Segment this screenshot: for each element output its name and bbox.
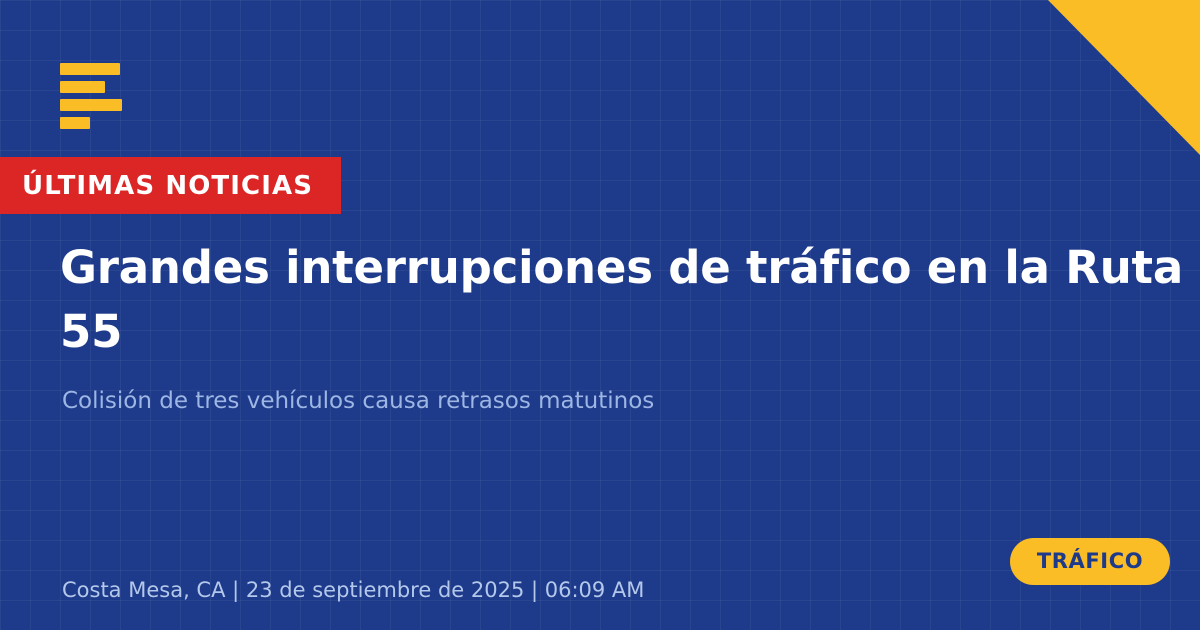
- subtitle: Colisión de tres vehículos causa retraso…: [62, 385, 1062, 417]
- category-badge-label: TRÁFICO: [1037, 551, 1143, 572]
- breaking-news-label: ÚLTIMAS NOTICIAS: [22, 173, 313, 199]
- headline: Grandes interrupciones de tráfico en la …: [60, 236, 1185, 364]
- logo-bar-1: [60, 63, 120, 75]
- breaking-news-card: ÚLTIMAS NOTICIAS Grandes interrupciones …: [0, 0, 1200, 630]
- logo-bar-3: [60, 99, 122, 111]
- logo-bar-4: [60, 117, 90, 129]
- category-badge: TRÁFICO: [1010, 538, 1170, 585]
- stacked-bars-logo: [60, 63, 122, 129]
- breaking-news-banner: ÚLTIMAS NOTICIAS: [0, 157, 341, 214]
- corner-wedge-accent: [1048, 0, 1200, 155]
- footer-meta-line: Costa Mesa, CA | 23 de septiembre de 202…: [62, 576, 644, 604]
- logo-bar-2: [60, 81, 105, 93]
